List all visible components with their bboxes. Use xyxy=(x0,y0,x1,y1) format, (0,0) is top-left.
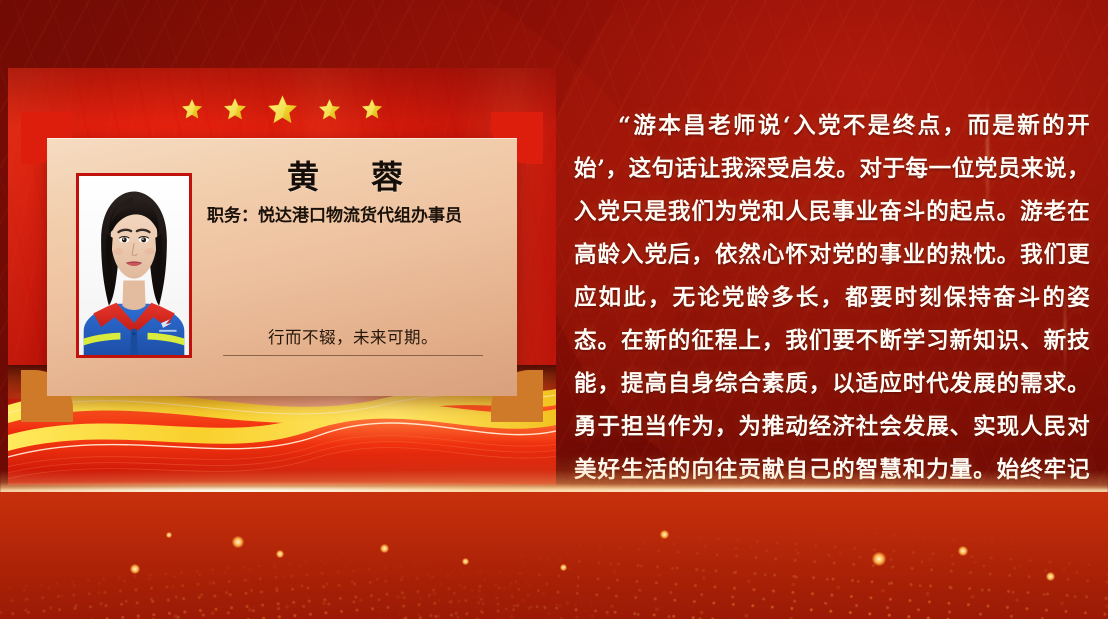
spark-particle xyxy=(276,550,284,558)
portrait-photo xyxy=(79,176,189,355)
card-corner-notch-sw xyxy=(47,370,73,396)
particle-ground xyxy=(0,492,1108,619)
star-icon xyxy=(223,97,247,121)
person-role: 职务：悦达港口物流货代组办事员 xyxy=(207,205,499,228)
spark-particle xyxy=(1046,572,1055,581)
star-rating-row xyxy=(8,86,556,132)
spark-particle xyxy=(166,532,172,538)
spark-particle xyxy=(560,564,567,571)
motto-zone: 行而不辍，未来可期。 xyxy=(211,324,495,356)
star-icon xyxy=(361,98,383,120)
portrait-frame xyxy=(76,173,192,358)
person-motto: 行而不辍，未来可期。 xyxy=(211,324,495,355)
spark-particle xyxy=(872,552,886,566)
spark-particle xyxy=(958,546,968,556)
spark-particle xyxy=(232,536,244,548)
motto-divider xyxy=(223,355,483,356)
slide-canvas: 黄 蓉 职务：悦达港口物流货代组办事员 行而不辍，未来可期。 “游本昌老师说‘入… xyxy=(0,0,1108,619)
star-icon xyxy=(181,98,203,120)
profile-card: 黄 蓉 职务：悦达港口物流货代组办事员 行而不辍，未来可期。 xyxy=(47,138,517,396)
profile-text-block: 黄 蓉 职务：悦达港口物流货代组办事员 行而不辍，未来可期。 xyxy=(207,160,499,382)
spark-particle xyxy=(660,530,669,539)
star-icon xyxy=(318,98,341,121)
spark-particle xyxy=(462,558,469,565)
spark-particle xyxy=(380,544,389,553)
card-corner-notch-nw xyxy=(47,138,73,164)
person-name: 黄 蓉 xyxy=(207,160,499,195)
star-icon xyxy=(267,94,298,125)
spark-particle xyxy=(130,564,140,574)
particle-field-right xyxy=(0,492,1108,619)
